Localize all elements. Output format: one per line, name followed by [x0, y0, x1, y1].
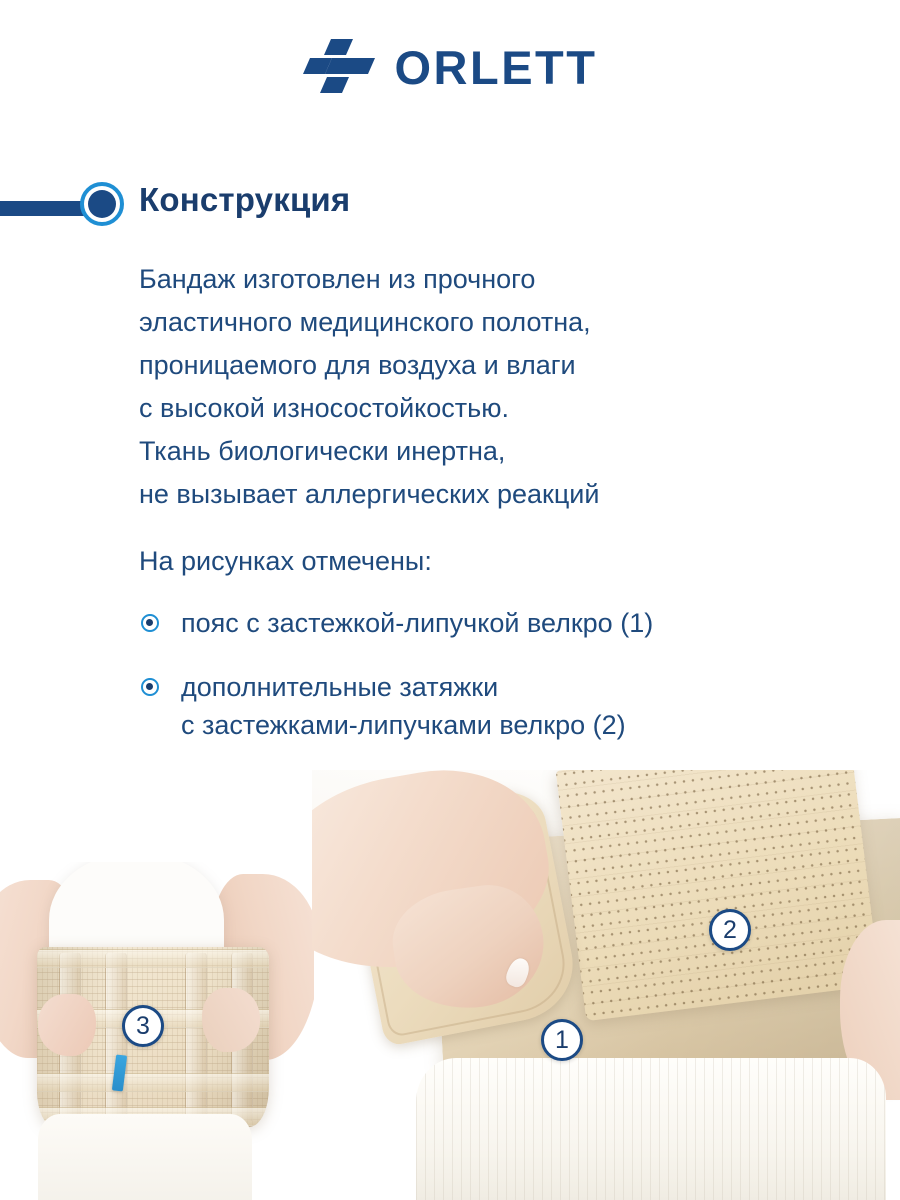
callout-badge-3: 3 — [122, 1005, 164, 1047]
belt-edge-band — [37, 949, 269, 968]
description-line: эластичного медицинского полотна, — [139, 301, 799, 344]
description-line: Ткань биологически инертна, — [139, 430, 799, 473]
section-heading-block — [0, 178, 900, 232]
heading-marker-dot-icon — [88, 190, 116, 218]
product-photo-area — [0, 770, 900, 1200]
garment-rib-texture — [416, 1058, 886, 1200]
infographic-page: ORLETT Конструкция Бандаж изготовлен из … — [0, 0, 900, 1200]
list-item-label: с застежками-липучками велкро (2) — [181, 706, 859, 744]
list-item-label: дополнительные затяжки — [181, 668, 859, 706]
section-title: Конструкция — [139, 181, 350, 219]
belt-edge-band — [37, 1073, 269, 1092]
photo-side-view — [312, 770, 900, 1200]
description-line: не вызывает аллергических реакций — [139, 473, 799, 516]
brand-wordmark: ORLETT — [395, 44, 598, 91]
list-item: пояс с застежкой-липучкой велкро (1) — [139, 604, 859, 642]
callout-badge-2: 2 — [709, 909, 751, 951]
list-intro-text: На рисунках отмечены: — [139, 546, 432, 577]
description-line: Бандаж изготовлен из прочного — [139, 258, 799, 301]
callout-badge-1: 1 — [541, 1019, 583, 1061]
perforation-texture — [556, 770, 881, 1021]
brand-logo: ORLETT — [0, 38, 900, 96]
description-line: проницаемого для воздуха и влаги — [139, 344, 799, 387]
model-right-hand — [202, 988, 260, 1052]
model-left-hand — [38, 994, 96, 1056]
description-line: с высокой износостойкостью. — [139, 387, 799, 430]
perforated-tightener-panel — [556, 770, 881, 1021]
bullet-dot-icon — [141, 678, 159, 696]
list-item: дополнительные затяжки с застежками-липу… — [139, 668, 859, 744]
stiffening-rib — [185, 953, 207, 1121]
description-paragraph: Бандаж изготовлен из прочного эластичног… — [139, 258, 799, 516]
stiffening-rib — [105, 953, 127, 1121]
model-lower-garment — [416, 1058, 886, 1200]
bullet-dot-icon — [141, 614, 159, 632]
model-lower-garment — [38, 1114, 252, 1200]
orlett-cross-mark-icon — [303, 38, 377, 96]
list-item-label: пояс с застежкой-липучкой велкро (1) — [181, 604, 859, 642]
